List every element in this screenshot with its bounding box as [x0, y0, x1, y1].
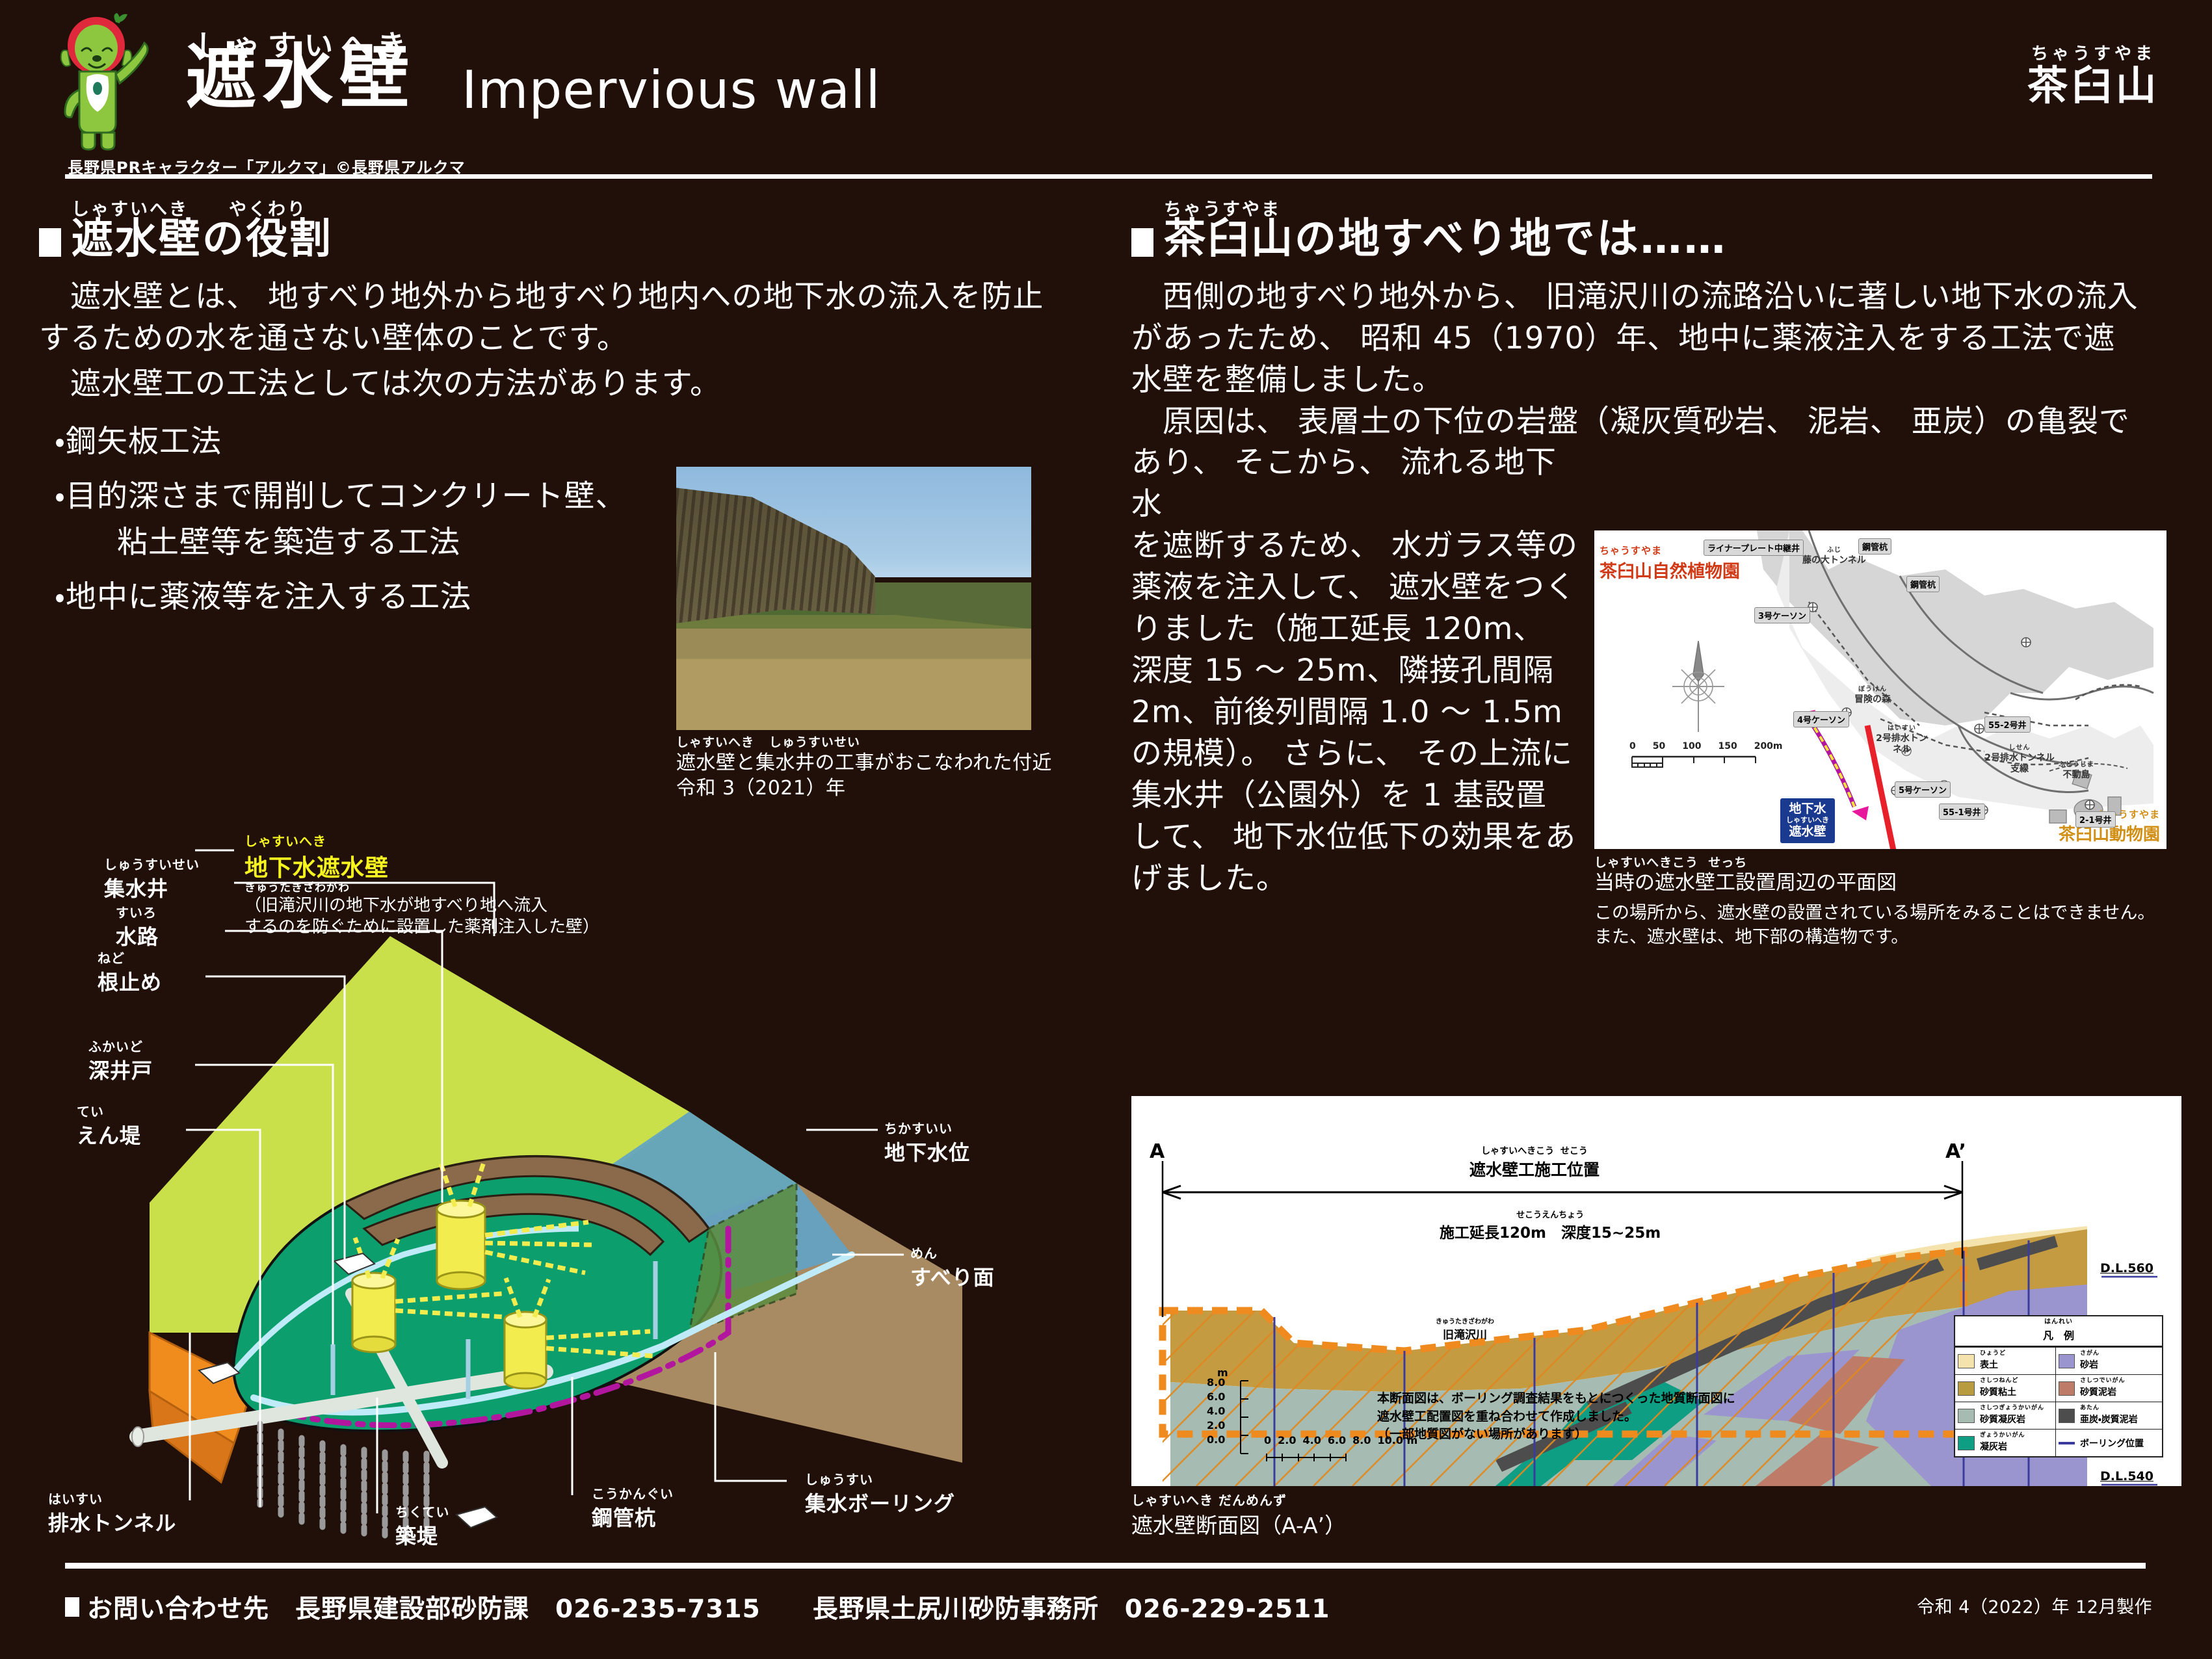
right-body-line-7: 薬液を注入して、 遮水壁をつく: [1131, 567, 1587, 608]
right-body-line-3: 水壁を整備しました。: [1131, 359, 2178, 401]
map-scale-ticks: 050 100150 200m: [1629, 741, 1783, 751]
section-vscale-t1: 8.0: [1207, 1376, 1225, 1390]
section-hscale-t2: 2.0: [1278, 1434, 1296, 1446]
bullet-square-icon: [39, 228, 61, 257]
map-label-fuji-tunnel: ふじ藤の大トンネル: [1802, 547, 1866, 566]
section-hscale-t4: 6.0: [1328, 1434, 1346, 1446]
left-section-heading: しゃすいへき やくわり 遮水壁の役割: [39, 195, 1092, 262]
photo-caption-date: 令和 3（2021）年: [676, 776, 1066, 801]
footer-divider: [65, 1563, 2146, 1569]
legend-swatch-3: [2055, 1374, 2077, 1402]
right-body-line-4: 原因は、 表層土の下位の岩盤（凝灰質砂岩、 泥岩、 亜炭）の亀裂で: [1131, 401, 2178, 443]
photo-caption: しゃすいへき しゅうすいせい 遮水壁と集水井の工事がおこなわれた付近 令和 3（…: [676, 737, 1066, 801]
diagram-highlight-note: きゅうたきざわがわ （旧滝沢川の地下水が地すべり地へ流入 するのを防ぐために設置…: [244, 883, 599, 937]
section-notes: 本断面図は、ボーリング調査結果をもとにつくった地質断面図に 遮水壁工配置図を重ね…: [1377, 1390, 1735, 1444]
diagram-label-dam: ていえん堤: [77, 1105, 141, 1149]
cross-section-block: A A’ しゃすいへきこう せこう 遮水壁工施工位置 せこうえんちょう 施工延長…: [1131, 1096, 2181, 1539]
legend-swatch-2: [1955, 1374, 1977, 1402]
page-footer: お問い合わせ先長野県建設部砂防課026-235-7315長野県土尻川砂防事務所0…: [65, 1589, 2152, 1625]
map-note-2: また、遮水壁は、地下部の構造物です。: [1594, 926, 2179, 948]
diagram-label-root-stop: ねど根止め: [98, 952, 162, 996]
legend-label-6: ぎょうかいがん凝灰岩: [1977, 1429, 2055, 1456]
legend-grid: ひょうど表土 さがん砂岩 さしつねんど砂質粘土 さしつでいがん砂質泥岩 さしつぎ…: [1955, 1347, 2162, 1456]
header-divider: [65, 174, 2152, 179]
right-body-line-13: して、 地下水位低下の効果をあ: [1131, 816, 1587, 858]
legend-label-4: さしつぎょうかいがん砂質凝灰岩: [1977, 1402, 2055, 1429]
section-mark-a-prime: A’: [1945, 1140, 1966, 1163]
legend-label-1: さがん砂岩: [2077, 1347, 2162, 1374]
map-tag-steel-pile-2: 鋼管杭: [1906, 576, 1940, 592]
section-mark-a: A: [1150, 1140, 1165, 1163]
section-top-label-ruby: しゃすいへきこう せこう: [1469, 1144, 1600, 1157]
right-body-line-10: 2m、前後列間隔 1.0 ～ 1.5m: [1131, 692, 1587, 733]
right-body-line-12: 集水井（公園外）を 1 基設置: [1131, 775, 1587, 816]
isometric-diagram-svg: [39, 839, 1092, 1541]
left-paragraph-1a: 遮水壁とは、 地すべり地外から地すべり地内への地下水の流入を防止: [39, 276, 1092, 318]
page-title-english: Impervious wall: [462, 60, 881, 120]
section-hscale-t3: 4.0: [1302, 1434, 1321, 1446]
map-tag-well-2-1: 2-1号井: [2075, 811, 2116, 828]
brand-ruby: ちゃうすやま: [2027, 40, 2160, 64]
map-label-adventure-forest: ぼうけん冒険の森: [1854, 686, 1891, 705]
diagram-label-drain-tunnel: はいすい排水トンネル: [48, 1493, 176, 1537]
section-dimension-label: せこうえんちょう 施工延長120m 深度15~25m: [1440, 1208, 1661, 1242]
diagram-label-embankment: ちくてい築堤: [395, 1506, 449, 1550]
cross-section-caption-ruby: しゃすいへき だんめんず: [1131, 1494, 2181, 1507]
brand-chausuyama: ちゃうすやま 茶臼山: [2027, 40, 2160, 107]
cross-section-caption-text: 遮水壁断面図（A-A’）: [1131, 1508, 2181, 1539]
legend-swatch-1: [2055, 1347, 2077, 1374]
diagram-label-collection-well: しゅうすいせい集水井: [104, 858, 200, 902]
map-tag-caisson-4: 4号ケーソン: [1793, 711, 1849, 727]
map-caption-text: 当時の遮水壁工設置周辺の平面図: [1594, 870, 2179, 896]
section-dl-560: D.L.560: [2100, 1261, 2153, 1275]
legend-label-7: ボーリング位置: [2077, 1429, 2162, 1456]
section-vscale-t3: 4.0: [1207, 1404, 1225, 1418]
diagram-label-waterway: すいろ水路: [116, 906, 159, 950]
legend-label-3: さしつでいがん砂質泥岩: [2077, 1374, 2162, 1402]
method-item-1: ・鋼矢板工法: [39, 419, 1092, 465]
legend-label-0: ひょうど表土: [1977, 1347, 2055, 1374]
legend-swatch-6: [1955, 1429, 1977, 1456]
map-tag-impervious-wall: 地下水しゃすいへき遮水壁: [1780, 798, 1835, 843]
legend-label-2: さしつねんど砂質粘土: [1977, 1374, 2055, 1402]
photo-caption-text: 遮水壁と集水井の工事がおこなわれた付近: [676, 750, 1066, 776]
footer-contact-line: お問い合わせ先長野県建設部砂防課026-235-7315長野県土尻川砂防事務所0…: [87, 1589, 1330, 1625]
right-section-title: 茶臼山の地すべり地では……: [1164, 215, 1728, 263]
diagram-label-groundwater-level: ちかすいい地下水位: [884, 1122, 970, 1166]
bullet-square-icon-2: [1131, 228, 1153, 257]
section-top-label: しゃすいへきこう せこう 遮水壁工施工位置: [1469, 1144, 1600, 1181]
footer-org-2: 長野県土尻川砂防事務所: [813, 1595, 1099, 1624]
diagram-label-impervious-wall-highlight: しゃすいへき地下水遮水壁 きゅうたきざわがわ （旧滝沢川の地下水が地すべり地へ流…: [244, 835, 599, 937]
section-legend: はんれい 凡 例 ひょうど表土 さがん砂岩 さしつねんど砂質粘土 さしつでいがん…: [1954, 1315, 2163, 1457]
section-vscale-t4: 2.0: [1207, 1418, 1225, 1433]
footer-org-1: 長野県建設部砂防課: [295, 1595, 529, 1624]
photo-caption-ruby: しゃすいへき しゅうすいせい: [676, 737, 1066, 749]
section-note-2: 遮水壁工配置図を重ね合わせて作成しました。: [1377, 1408, 1735, 1426]
legend-label-5: あたん亜炭・炭質泥岩: [2077, 1402, 2162, 1429]
right-body-line-11: の規模）。 さらに、 その上流に: [1131, 733, 1587, 775]
map-tag-caisson-5: 5号ケーソン: [1895, 781, 1951, 798]
right-body-line-2: があったため、 昭和 45（1970）年、地中に薬液注入をする工法で遮: [1131, 318, 2178, 359]
area-map: Ⓟ Ⓟ: [1594, 530, 2166, 849]
cross-section-caption: しゃすいへき だんめんず 遮水壁断面図（A-A’）: [1131, 1494, 2181, 1539]
page-header: しゃすいへき 遮水壁 Impervious wall 長野県PRキャラクター「ア…: [0, 0, 2212, 177]
map-caption: しゃすいへきこう せっち 当時の遮水壁工設置周辺の平面図: [1594, 857, 2179, 896]
legend-title: はんれい 凡 例: [1955, 1316, 2162, 1347]
map-tag-liner-plate: ライナープレート中継井: [1704, 540, 1804, 556]
map-tag-well-55-2: 55-2号井: [1984, 716, 2031, 733]
mascot-arukuma-icon: [51, 12, 160, 153]
map-label-drain-tunnel-branch: しせん2号排水トンネル支線: [1981, 745, 2059, 775]
section-vscale-t5: 0.0: [1207, 1433, 1225, 1447]
footer-contact-label: お問い合わせ先: [87, 1595, 269, 1624]
site-photograph: [676, 467, 1031, 730]
footer-bullet-icon: [65, 1597, 79, 1617]
right-body-line-8: りました（施工延長 120m、: [1131, 608, 1587, 650]
section-dl-540: D.L.540: [2100, 1469, 2153, 1483]
left-paragraph-1b: するための水を通さない壁体のことです。: [39, 318, 1092, 359]
area-map-block: Ⓟ Ⓟ: [1594, 530, 2179, 948]
footer-publish-date: 令和 4（2022）年 12月製作: [1917, 1593, 2152, 1618]
right-body-line-9: 深度 15 ～ 25m、隣接孔間隔: [1131, 650, 1587, 692]
map-label-drain-tunnel-2: はいすい2号排水トンネル: [1873, 725, 1931, 755]
isometric-diagram: しゅうすいせい集水井 すいろ水路 ねど根止め ふかいど深井戸 ていえん堤 はいす…: [39, 839, 1092, 1541]
section-note-1: 本断面図は、ボーリング調査結果をもとにつくった地質断面図に: [1377, 1390, 1735, 1408]
page-title: 遮水壁: [186, 43, 416, 113]
legend-swatch-4: [1955, 1402, 1977, 1429]
right-body-line-5: あり、 そこから、 流れる地下水: [1131, 442, 1587, 525]
footer-tel-1[interactable]: 026-235-7315: [555, 1595, 761, 1624]
section-river-ruby: きゅうたきざわがわ: [1436, 1316, 1494, 1326]
diagram-label-collection-boring: しゅうすい集水ボーリング: [805, 1473, 955, 1517]
diagram-label-steel-pipe-pile: こうかんぐい鋼管杭: [592, 1487, 674, 1532]
map-tag-well-55-1: 55-1号井: [1939, 803, 1985, 820]
poster-root: しゃすいへき 遮水壁 Impervious wall 長野県PRキャラクター「ア…: [0, 0, 2212, 1659]
map-caption-ruby: しゃすいへきこう せっち: [1594, 857, 2179, 869]
section-river-label: きゅうたきざわがわ 旧滝沢川: [1436, 1316, 1494, 1342]
section-note-3: （一部地質図がない場所があります）: [1377, 1426, 1735, 1444]
footer-tel-2[interactable]: 026-229-2511: [1125, 1595, 1330, 1624]
map-tag-caisson-3: 3号ケーソン: [1754, 607, 1810, 623]
section-hscale-t5: 8.0: [1352, 1434, 1371, 1446]
right-body-line-14: げました。: [1131, 858, 1587, 900]
map-label-fudojima: ふどうじま不動島: [2059, 762, 2094, 781]
site-photo-block: しゃすいへき しゅうすいせい 遮水壁と集水井の工事がおこなわれた付近 令和 3（…: [676, 467, 1066, 801]
legend-swatch-7: [2055, 1429, 2077, 1456]
brand-name: 茶臼山: [2027, 64, 2160, 107]
section-hscale-t1: 0: [1264, 1434, 1271, 1446]
legend-swatch-0: [1955, 1347, 1977, 1374]
left-section-title: 遮水壁の役割: [72, 215, 333, 263]
right-body-line-6: を遮断するため、 水ガラス等の: [1131, 525, 1587, 567]
diagram-label-slip-surface: めんすべり面: [910, 1247, 995, 1291]
left-paragraph-2: 遮水壁工の工法としては次の方法があります。: [39, 363, 1092, 405]
section-vscale-t2: 6.0: [1207, 1390, 1225, 1404]
section-vscale: 8.0 6.0 4.0 2.0 0.0: [1207, 1376, 1225, 1447]
map-note-1: この場所から、遮水壁の設置されている場所をみることはできません。: [1594, 902, 2179, 924]
right-body-line-1: 西側の地すべり地外から、 旧滝沢川の流路沿いに著しい地下水の流入: [1131, 276, 2178, 318]
diagram-label-deep-well: ふかいど深井戸: [88, 1040, 153, 1084]
right-section-heading: ちゃうすやま 茶臼山の地すべり地では……: [1131, 195, 2178, 262]
section-dimension-ruby: せこうえんちょう: [1440, 1208, 1661, 1220]
cross-section-figure: A A’ しゃすいへきこう せこう 遮水壁工施工位置 せこうえんちょう 施工延長…: [1131, 1096, 2181, 1486]
legend-swatch-5: [2055, 1402, 2077, 1429]
